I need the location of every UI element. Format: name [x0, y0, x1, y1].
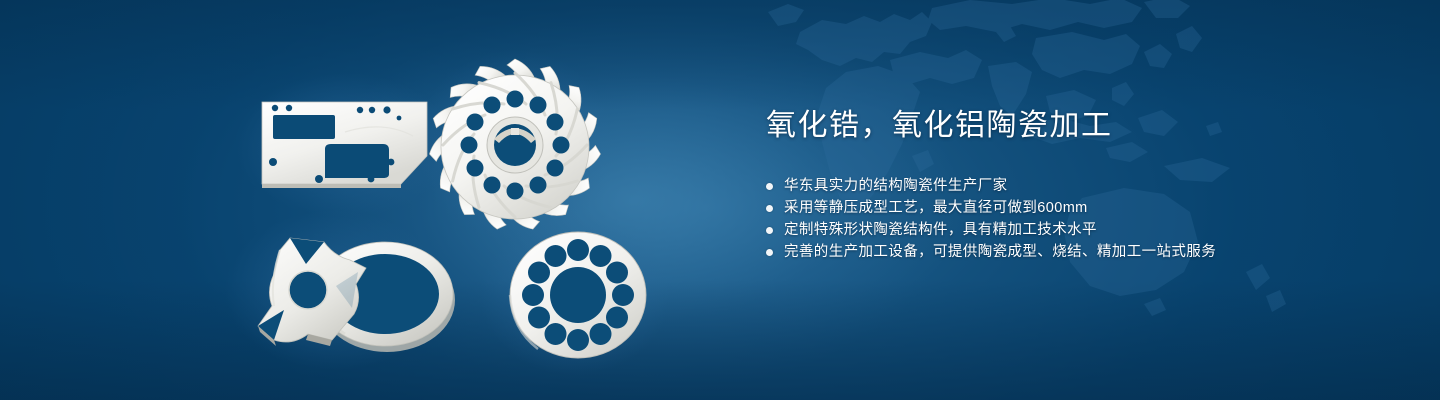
feature-text: 定制特殊形状陶瓷结构件，具有精加工技术水平: [784, 220, 1097, 240]
ceramic-products-image: [215, 40, 725, 375]
bullet-dot-icon: [766, 183, 773, 190]
ceramic-mounting-plate: [262, 102, 427, 188]
bullet-dot-icon: [766, 205, 773, 212]
feature-text: 华东具实力的结构陶瓷件生产厂家: [784, 176, 1008, 196]
feature-text: 采用等静压成型工艺，最大直径可做到600mm: [784, 198, 1088, 218]
hero-banner: 氧化锆，氧化铝陶瓷加工 华东具实力的结构陶瓷件生产厂家 采用等静压成型工艺，最大…: [0, 0, 1440, 400]
feature-item: 华东具实力的结构陶瓷件生产厂家: [766, 175, 1386, 197]
banner-copy: 氧化锆，氧化铝陶瓷加工 华东具实力的结构陶瓷件生产厂家 采用等静压成型工艺，最大…: [766, 106, 1386, 279]
bullet-dot-icon: [766, 249, 773, 256]
banner-title: 氧化锆，氧化铝陶瓷加工: [766, 106, 1386, 146]
feature-item: 采用等静压成型工艺，最大直径可做到600mm: [766, 197, 1386, 219]
ceramic-perforated-disc: [510, 232, 646, 358]
feature-list: 华东具实力的结构陶瓷件生产厂家 采用等静压成型工艺，最大直径可做到600mm 定…: [766, 175, 1386, 263]
bullet-dot-icon: [766, 227, 773, 234]
feature-text: 完善的生产加工设备，可提供陶瓷成型、烧结、精加工一站式服务: [784, 242, 1216, 262]
feature-item: 完善的生产加工设备，可提供陶瓷成型、烧结、精加工一站式服务: [766, 241, 1386, 263]
feature-item: 定制特殊形状陶瓷结构件，具有精加工技术水平: [766, 219, 1386, 241]
